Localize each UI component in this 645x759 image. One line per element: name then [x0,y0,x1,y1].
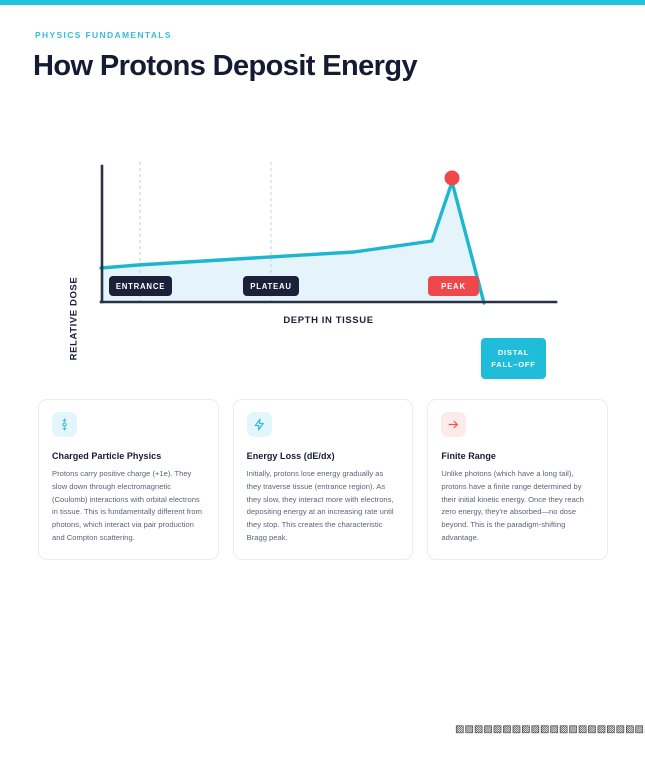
info-card-energy-loss: Energy Loss (dE/dx) Initially, protons l… [233,399,414,560]
distal-label-line1: DISTAL [498,347,529,359]
chart-badge-peak: PEAK [428,276,479,296]
page-header: PHYSICS FUNDAMENTALS How Protons Deposit… [33,30,613,81]
info-card-charged-particle-physics: Charged Particle Physics Protons carry p… [38,399,219,560]
card-title: Charged Particle Physics [52,451,205,461]
peak-marker-dot [445,171,460,186]
page-title: How Protons Deposit Energy [33,51,613,81]
x-axis-label: DEPTH IN TISSUE [101,315,556,326]
card-title: Finite Range [441,451,594,461]
distal-label-line2: FALL–OFF [491,359,535,371]
top-accent-bar [0,0,645,5]
card-body: Protons carry positive charge (+1e). The… [52,468,205,545]
chart-badge-entrance: ENTRANCE [109,276,172,296]
chart-badge-distal-falloff: DISTAL FALL–OFF [481,338,546,379]
y-axis-label: RELATIVE DOSE [69,259,80,379]
chart-badge-plateau: PLATEAU [243,276,299,296]
bragg-peak-chart: RELATIVE DOSE DEPTH IN TISSUE ENTRANCE P… [0,130,645,345]
eyebrow-label: PHYSICS FUNDAMENTALS [35,30,613,40]
card-body: Initially, protons lose energy gradually… [247,468,400,545]
atom-icon [52,412,77,437]
arrow-right-icon [441,412,466,437]
info-card-finite-range: Finite Range Unlike photons (which have … [427,399,608,560]
footer-glyph-strip: ▨▨▨▨▨▨▨▨▨▨▨▨▨▨▨▨▨▨▨▨▨▨▨▨ [455,724,645,735]
lightning-bolt-icon [247,412,272,437]
card-body: Unlike photons (which have a long tail),… [441,468,594,545]
info-card-list: Charged Particle Physics Protons carry p… [38,399,608,560]
chart-plot-svg [0,130,645,345]
card-title: Energy Loss (dE/dx) [247,451,400,461]
